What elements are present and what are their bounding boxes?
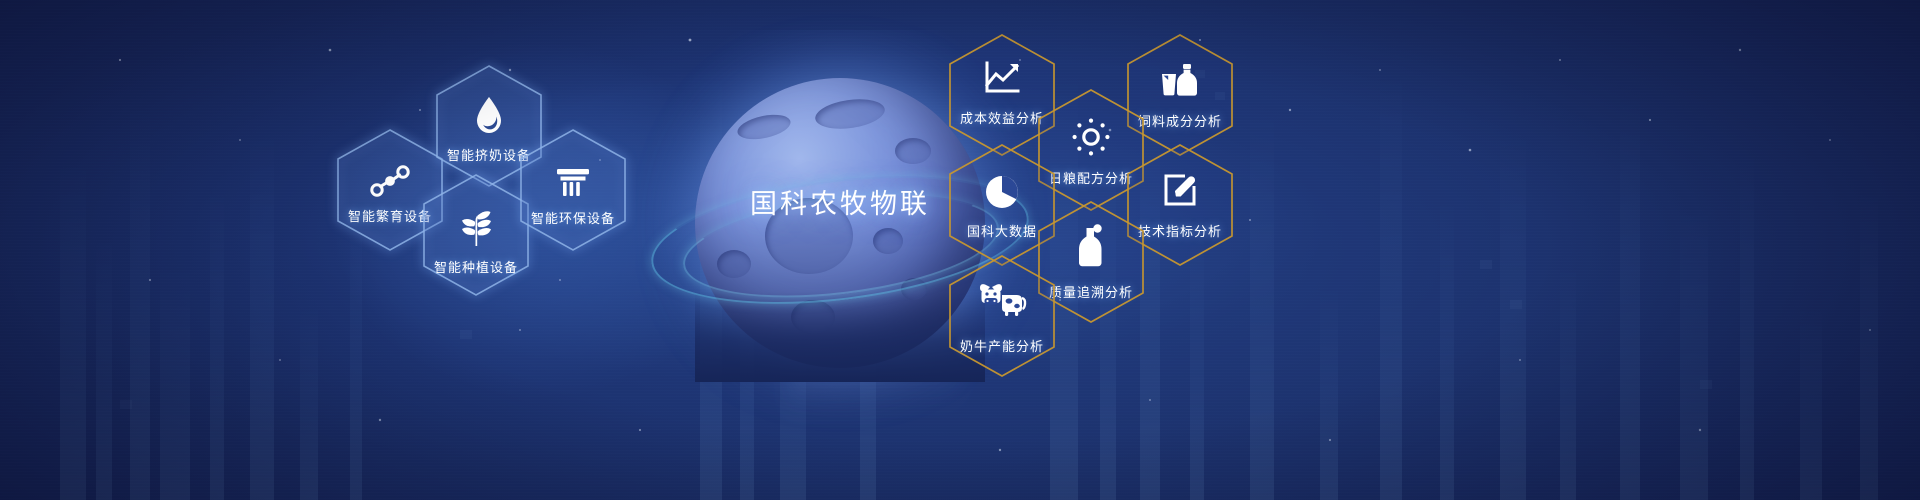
hexagon-outline [942, 252, 1062, 380]
hex-label: 智能环保设备 [513, 208, 633, 227]
scene-stage: 国科农牧物联 智能繁育设备 智能挤奶设备 [0, 0, 1920, 500]
cow-icon [942, 282, 1062, 316]
trash-bin-icon [513, 166, 633, 198]
hex-enviro[interactable]: 智能环保设备 [513, 126, 633, 254]
hex-label: 奶牛产能分析 [942, 336, 1062, 355]
hex-label: 智能种植设备 [416, 257, 536, 276]
hex-cow[interactable]: 奶牛产能分析 [942, 252, 1062, 380]
